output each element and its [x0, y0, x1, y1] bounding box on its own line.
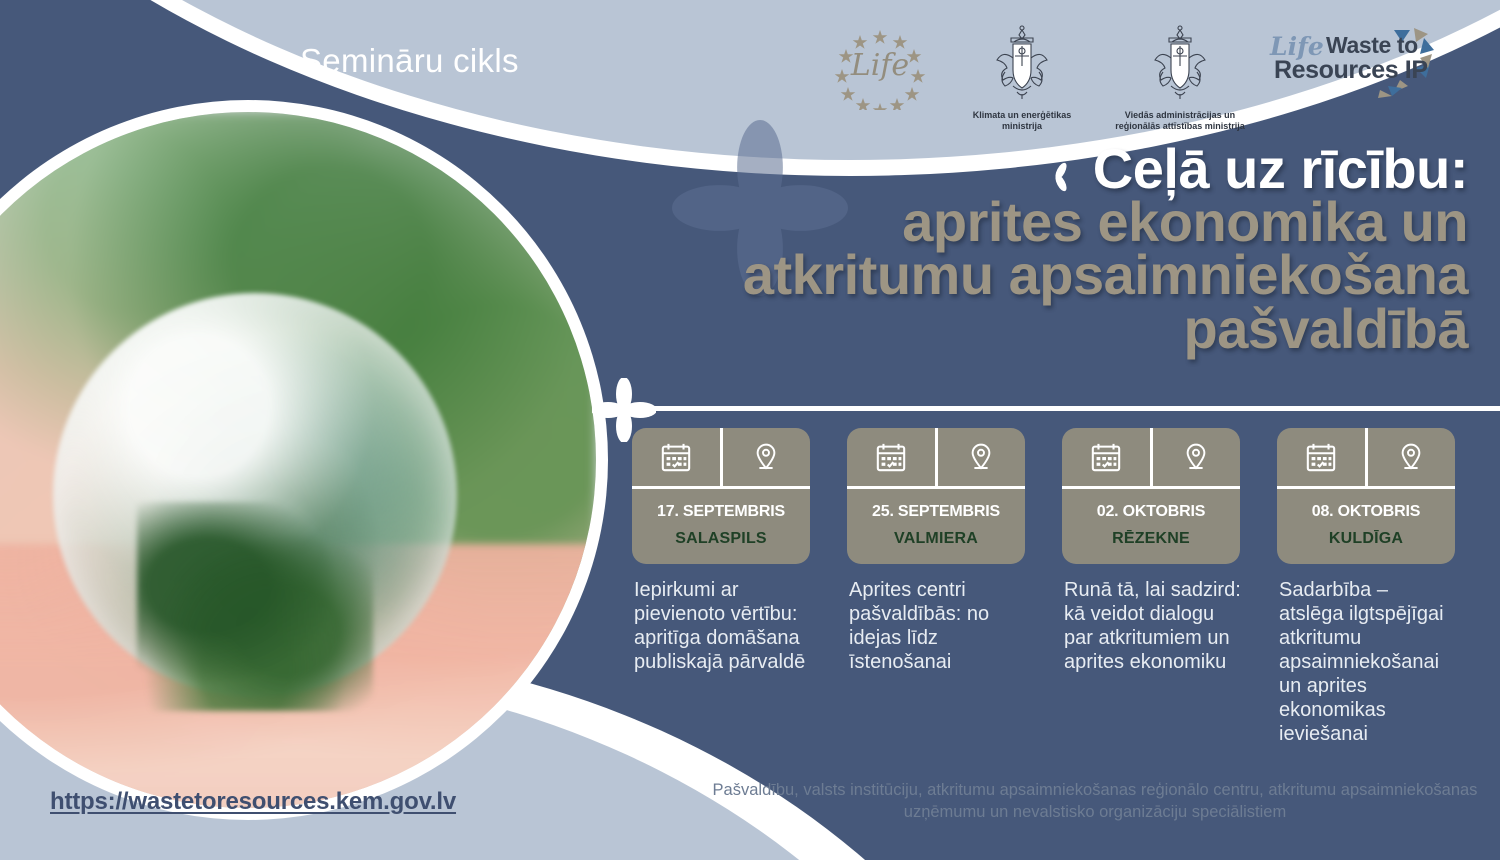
card-icon-row — [1062, 428, 1240, 489]
map-pin-icon — [723, 428, 811, 486]
waste-to-resources-logo: Life Waste to Resources IP — [1268, 24, 1448, 102]
card-icon-row — [632, 428, 810, 489]
website-url-link[interactable]: https://wastetoresources.kem.gov.lv — [50, 788, 456, 816]
event-date: 25. SEPTEMBRIS — [847, 489, 1025, 521]
map-pin-icon — [1368, 428, 1456, 486]
event-city: RĒZEKNE — [1062, 521, 1240, 564]
event-description: Sadarbība – atslēga ilgtspējīgai atkritu… — [1279, 578, 1457, 746]
life-logo: Life — [826, 24, 934, 110]
ministry-logo-climate-energy: Klimata un enerģētikas ministrija — [952, 24, 1092, 133]
photo-layer-leaves — [137, 502, 374, 711]
seminar-series-label: Semināru cikls — [300, 42, 519, 80]
calendar-icon — [1277, 428, 1368, 486]
hero-photo-hand-holding-glass-sphere — [0, 112, 596, 808]
title-line-1: Ceļā uz rīcību: — [568, 142, 1468, 195]
event-card[interactable]: 25. SEPTEMBRIS VALMIERA — [847, 428, 1025, 564]
event-card[interactable]: 08. OKTOBRIS KULDĪGA — [1277, 428, 1455, 564]
event-city: VALMIERA — [847, 521, 1025, 564]
event-description: Runā tā, lai sadzird: kā veidot dialogu … — [1064, 578, 1242, 746]
event-description-list: Iepirkumi ar pievienoto vērtību: apritīg… — [634, 578, 1460, 746]
card-icon-row — [847, 428, 1025, 489]
divider-line — [636, 406, 1500, 411]
title-line-2: aprites ekonomika un — [568, 195, 1468, 248]
event-card-list: 17. SEPTEMBRIS SALASPILS — [632, 428, 1458, 564]
event-description: Aprites centri pašvaldībās: no idejas lī… — [849, 578, 1027, 746]
title-line-3: atkritumu apsaimniekošana — [568, 248, 1468, 301]
event-description: Iepirkumi ar pievienoto vērtību: apritīg… — [634, 578, 812, 746]
latvia-coat-of-arms-icon — [1145, 24, 1215, 107]
calendar-icon — [632, 428, 723, 486]
w2r-line2: Resources IP — [1274, 56, 1428, 85]
poster: Semināru cikls — [0, 0, 1500, 860]
event-card[interactable]: 02. OKTOBRIS RĒZEKNE — [1062, 428, 1240, 564]
map-pin-icon — [1153, 428, 1241, 486]
event-card[interactable]: 17. SEPTEMBRIS SALASPILS — [632, 428, 810, 564]
ministry-caption: Klimata un enerģētikas ministrija — [952, 110, 1092, 133]
event-city: KULDĪGA — [1277, 521, 1455, 564]
card-icon-row — [1277, 428, 1455, 489]
eu-stars-circle-icon: Life — [826, 24, 934, 110]
page-title: Ceļā uz rīcību: aprites ekonomika un atk… — [568, 142, 1468, 355]
title-line-4: pašvaldībā — [568, 302, 1468, 355]
event-date: 08. OKTOBRIS — [1277, 489, 1455, 521]
life-wordmark: Life — [851, 48, 909, 83]
latvia-coat-of-arms-icon — [987, 24, 1057, 107]
calendar-icon — [1062, 428, 1153, 486]
event-date: 02. OKTOBRIS — [1062, 489, 1240, 521]
calendar-icon — [847, 428, 938, 486]
map-pin-icon — [938, 428, 1026, 486]
target-audience-text: Pašvaldību, valsts institūciju, atkritum… — [700, 780, 1490, 824]
w2r-line1: Waste to — [1326, 32, 1418, 59]
event-date: 17. SEPTEMBRIS — [632, 489, 810, 521]
ministry-logo-smart-admin-regional: Viedās administrācijas un reģionālās att… — [1110, 24, 1250, 133]
logo-strip: Life — [826, 24, 1486, 120]
ministry-caption: Viedās administrācijas un reģionālās att… — [1110, 110, 1250, 133]
event-city: SALASPILS — [632, 521, 810, 564]
